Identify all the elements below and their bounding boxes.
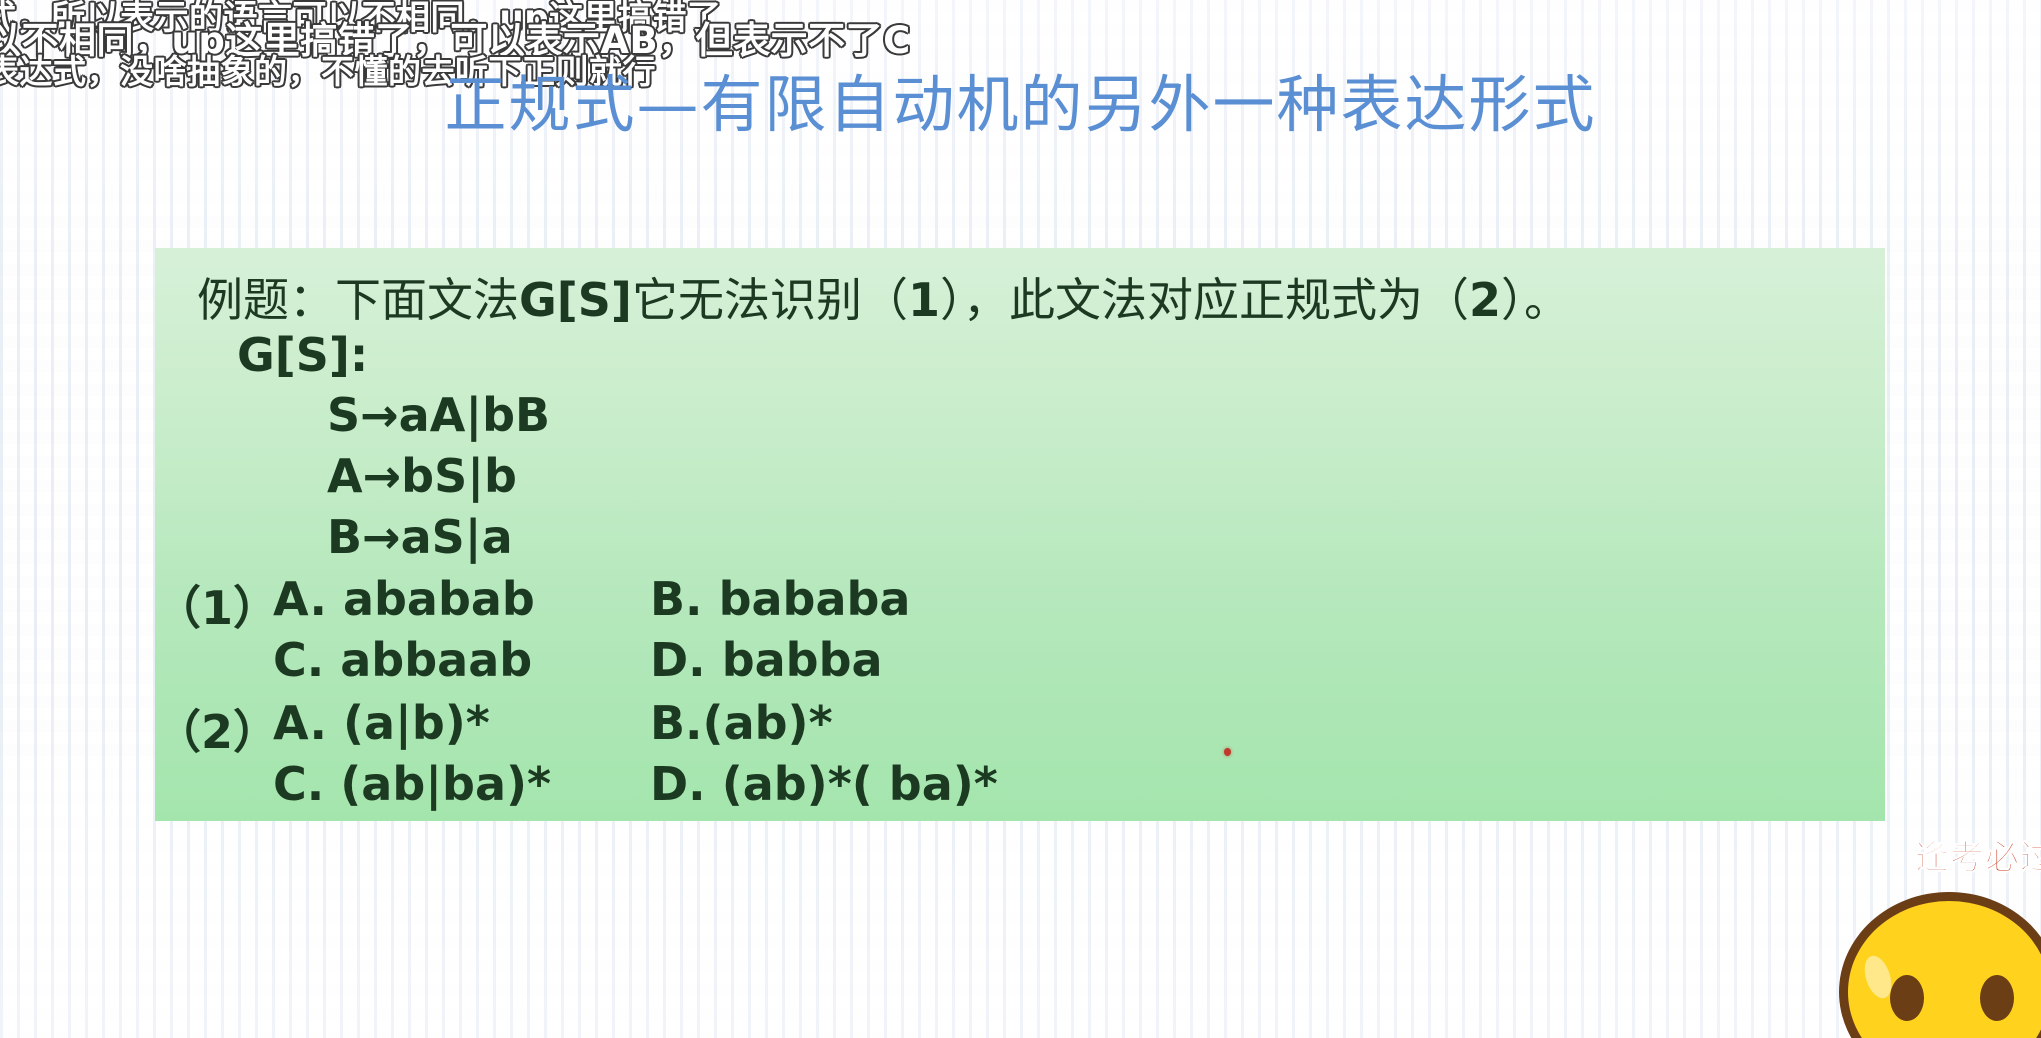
grammar-rule: A→bS|b bbox=[327, 449, 517, 503]
grammar-rule: S→aA|bB bbox=[327, 388, 550, 442]
answer-option-1c[interactable]: C. abbaab bbox=[273, 633, 532, 687]
option-text: babba bbox=[722, 633, 883, 687]
question-after-1: ），此文法对应正规式为（ bbox=[940, 273, 1469, 327]
option-text: (ab|ba)* bbox=[340, 757, 551, 811]
answer-option-2c[interactable]: C. (ab|ba)* bbox=[273, 757, 551, 811]
watermark-text: 逢考必过 bbox=[1915, 830, 2041, 879]
option-key: A. bbox=[273, 572, 327, 626]
question-middle: 它无法识别（ bbox=[632, 273, 908, 327]
answer-group-2-label: （2） bbox=[155, 696, 279, 762]
option-key: A. bbox=[273, 696, 327, 750]
answer-option-2a[interactable]: A. (a|b)* bbox=[273, 696, 490, 750]
answer-option-2b[interactable]: B.(ab)* bbox=[650, 696, 833, 750]
option-key: B. bbox=[650, 572, 703, 626]
question-blank-2: 2 bbox=[1469, 273, 1501, 327]
answer-option-1d[interactable]: D. babba bbox=[650, 633, 883, 687]
video-frame: 式，所以表示的语言可以不相同，up这里搞错了 以不相同，up这里搞错了，可以表示… bbox=[0, 0, 2041, 1038]
option-text: abbaab bbox=[340, 633, 532, 687]
channel-watermark: 逢考必过 bbox=[1795, 830, 2041, 1038]
grammar-rule: B→aS|a bbox=[327, 510, 513, 564]
slide-title: 正规式—有限自动机的另外一种表达形式 bbox=[0, 74, 2041, 136]
option-text: (a|b)* bbox=[343, 696, 490, 750]
option-key: B. bbox=[650, 696, 703, 750]
option-text: (ab)* bbox=[703, 696, 833, 750]
smiley-face-icon bbox=[1839, 892, 2041, 1038]
question-grammar-name: G[S] bbox=[519, 273, 632, 327]
question-blank-1: 1 bbox=[908, 273, 940, 327]
answer-option-1a[interactable]: A. ababab bbox=[273, 572, 535, 626]
laser-pointer-dot bbox=[1224, 748, 1231, 756]
question-stem: 例题：下面文法G[S]它无法识别（1），此文法对应正规式为（2）。 bbox=[197, 264, 1570, 330]
face-eye-left bbox=[1890, 975, 1924, 1021]
option-text: bababa bbox=[719, 572, 911, 626]
example-question-card: 例题：下面文法G[S]它无法识别（1），此文法对应正规式为（2）。 G[S]: … bbox=[155, 248, 1885, 821]
option-key: D. bbox=[650, 757, 706, 811]
option-text: ababab bbox=[343, 572, 535, 626]
question-after-2: ）。 bbox=[1501, 273, 1570, 327]
answer-option-2d[interactable]: D. (ab)*( ba)* bbox=[650, 757, 998, 811]
answer-option-1b[interactable]: B. bababa bbox=[650, 572, 910, 626]
option-key: C. bbox=[273, 633, 324, 687]
answer-group-1-label: （1） bbox=[155, 572, 279, 638]
option-text: (ab)*( ba)* bbox=[722, 757, 998, 811]
option-key: C. bbox=[273, 757, 324, 811]
grammar-header: G[S]: bbox=[237, 328, 368, 382]
option-key: D. bbox=[650, 633, 706, 687]
question-prefix: 例题：下面文法 bbox=[197, 273, 519, 327]
face-eye-right bbox=[1980, 975, 2014, 1021]
